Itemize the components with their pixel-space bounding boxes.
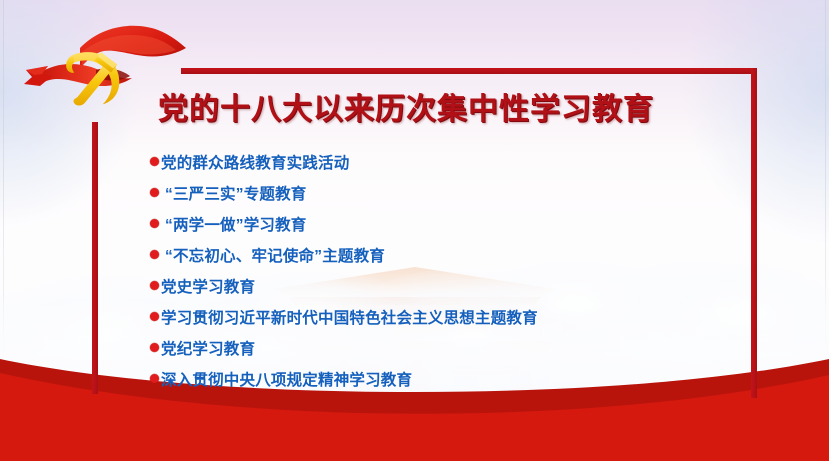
poster-slide: 党的十八大以来历次集中性学习教育 党的群众路线教育实践活动 “三严三实”专题教育… bbox=[0, 0, 829, 461]
list-item-label: “不忘初心、牢记使命”主题教育 bbox=[165, 244, 385, 266]
list-item-label: 党的群众路线教育实践活动 bbox=[161, 151, 349, 173]
frame-border-right bbox=[751, 68, 757, 398]
list-item: 党史学习教育 bbox=[150, 270, 750, 301]
bullet-dot-icon bbox=[150, 281, 159, 290]
list-item: 党的群众路线教育实践活动 bbox=[150, 146, 750, 177]
list-item-label: 党史学习教育 bbox=[161, 275, 255, 297]
list-item: “三严三实”专题教育 bbox=[150, 177, 750, 208]
bullet-dot-icon bbox=[150, 157, 159, 166]
frame-border-left bbox=[92, 122, 98, 394]
bullet-dot-icon bbox=[150, 219, 159, 228]
list-item: 学习贯彻习近平新时代中国特色社会主义思想主题教育 bbox=[150, 301, 750, 332]
bullet-dot-icon bbox=[150, 374, 159, 383]
education-campaign-list: 党的群众路线教育实践活动 “三严三实”专题教育 “两学一做”学习教育 “不忘初心… bbox=[150, 146, 750, 394]
list-item: 深入贯彻中央八项规定精神学习教育 bbox=[150, 363, 750, 394]
list-item-label: 党纪学习教育 bbox=[161, 337, 255, 359]
list-item-label: “两学一做”学习教育 bbox=[165, 213, 307, 235]
bullet-dot-icon bbox=[150, 343, 159, 352]
list-item: 党纪学习教育 bbox=[150, 332, 750, 363]
bullet-dot-icon bbox=[150, 250, 159, 259]
list-item: “两学一做”学习教育 bbox=[150, 208, 750, 239]
list-item: “不忘初心、牢记使命”主题教育 bbox=[150, 239, 750, 270]
frame-border-top bbox=[181, 68, 757, 74]
bullet-dot-icon bbox=[150, 188, 159, 197]
list-item-label: 深入贯彻中央八项规定精神学习教育 bbox=[161, 368, 412, 390]
page-title: 党的十八大以来历次集中性学习教育 bbox=[158, 84, 654, 128]
bullet-dot-icon bbox=[150, 312, 159, 321]
list-item-label: “三严三实”专题教育 bbox=[165, 182, 307, 204]
list-item-label: 学习贯彻习近平新时代中国特色社会主义思想主题教育 bbox=[161, 306, 538, 328]
